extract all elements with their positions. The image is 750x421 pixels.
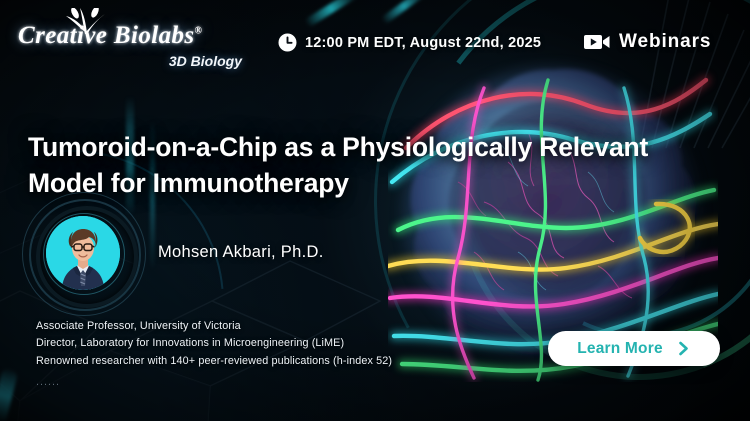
speaker-portrait bbox=[46, 216, 120, 290]
datetime-text: 12:00 PM EDT, August 22nd, 2025 bbox=[305, 35, 541, 51]
credential-line: Renowned researcher with 140+ peer-revie… bbox=[36, 353, 436, 370]
clock-icon bbox=[278, 33, 297, 52]
webinar-datetime: 12:00 PM EDT, August 22nd, 2025 bbox=[278, 33, 541, 52]
webinars-label-group: Webinars bbox=[584, 31, 711, 53]
credentials-ellipsis: ...... bbox=[36, 376, 436, 388]
webinars-text: Webinars bbox=[619, 31, 711, 53]
registered-mark: ® bbox=[195, 26, 203, 37]
brand-name: Creative Biolabs® bbox=[18, 22, 248, 50]
learn-more-button[interactable]: Learn More bbox=[548, 331, 720, 366]
learn-more-label: Learn More bbox=[577, 340, 663, 358]
speaker-credentials: Associate Professor, University of Victo… bbox=[36, 318, 436, 388]
credential-line: Director, Laboratory for Innovations in … bbox=[36, 335, 436, 352]
speaker-name: Mohsen Akbari, Ph.D. bbox=[158, 243, 324, 262]
webinar-banner: Creative Biolabs® 3D Biology 12:00 PM ED… bbox=[0, 0, 750, 421]
brand-tagline: 3D Biology bbox=[18, 53, 248, 69]
page-title: Tumoroid-on-a-Chip as a Physiologically … bbox=[28, 130, 688, 202]
video-camera-icon bbox=[584, 33, 610, 51]
avatar bbox=[22, 192, 144, 314]
sprout-flourish-icon bbox=[62, 8, 108, 34]
credential-line: Associate Professor, University of Victo… bbox=[36, 318, 436, 335]
brand-logo[interactable]: Creative Biolabs® 3D Biology bbox=[18, 22, 248, 78]
chevron-right-icon bbox=[676, 341, 691, 356]
